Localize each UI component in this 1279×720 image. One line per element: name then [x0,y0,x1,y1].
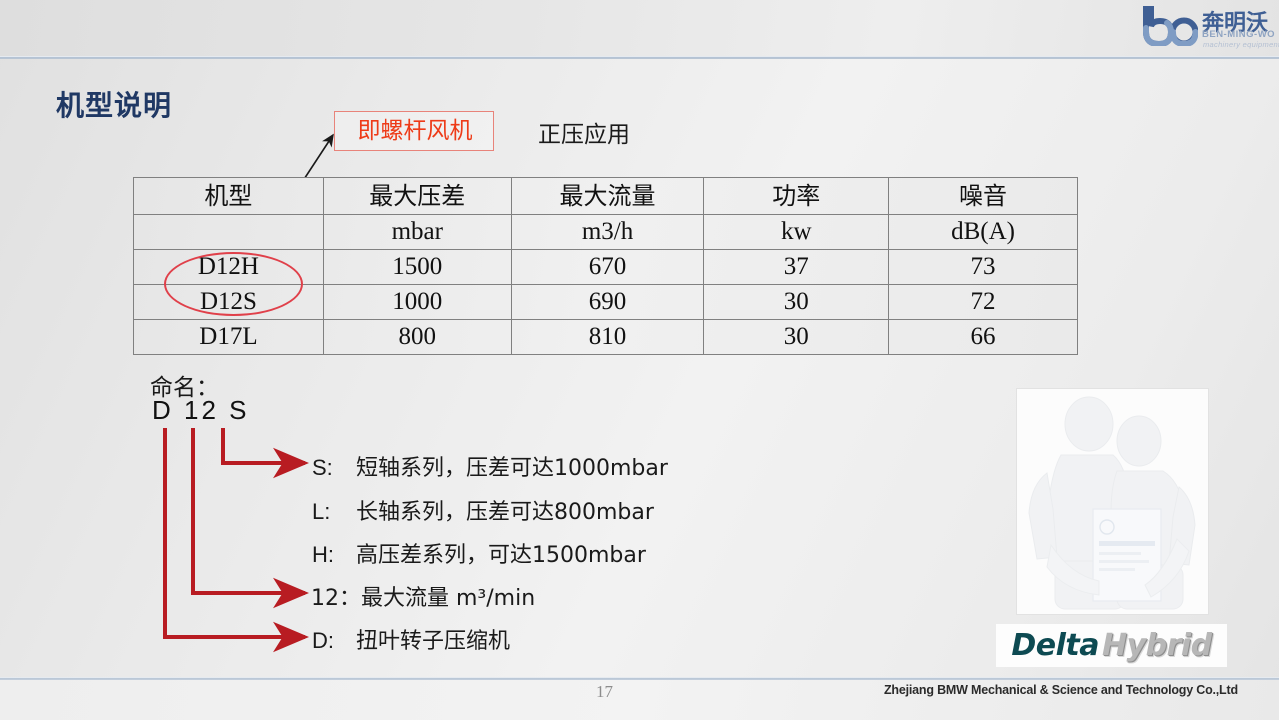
logo-name-en: BEN-MING-WO [1202,29,1275,40]
legend-key: H: [312,542,356,568]
table-cell: 72 [889,285,1078,320]
page-number: 17 [596,682,613,702]
table-cell-model: D17L [134,320,324,355]
robot-illustration-icon [1017,389,1208,614]
table-unit-cell: dB(A) [889,215,1078,250]
table-cell: 1000 [323,285,511,320]
spec-table: 机型 最大压差 最大流量 功率 噪音 mbar m3/h kw dB(A) D1… [133,177,1078,355]
table-cell: 66 [889,320,1078,355]
table-header-cell: 机型 [134,178,324,215]
footer-company-name: Zhejiang BMW Mechanical & Science and Te… [884,683,1238,697]
legend-item-d: D:扭叶转子压缩机 [312,623,510,655]
table-cell: 690 [511,285,704,320]
table-header-cell: 最大压差 [323,178,511,215]
table-unit-cell: mbar [323,215,511,250]
table-unit-cell [134,215,324,250]
legend-desc: 扭叶转子压缩机 [356,629,510,654]
table-cell: 37 [704,250,889,285]
legend-item-h: H:高压差系列，可达1500mbar [312,537,646,569]
legend-desc: 高压差系列，可达1500mbar [356,543,646,568]
slide-canvas: 奔明沃 BEN-MING-WO machinery equipment 机型说明… [0,0,1279,720]
table-header-row: 机型 最大压差 最大流量 功率 噪音 [134,178,1078,215]
callout-box: 即螺杆风机 [334,111,494,151]
table-cell: 30 [704,320,889,355]
table-cell: 670 [511,250,704,285]
legend-item-12: 12：最大流量 m³/min [311,580,535,612]
side-note-label: 正压应用 [538,115,630,149]
table-cell: 73 [889,250,1078,285]
table-row: D17L 800 810 30 66 [134,320,1078,355]
naming-code: D 12 S [152,395,250,426]
table-cell: 1500 [323,250,511,285]
table-row: D12H 1500 670 37 73 [134,250,1078,285]
header-band [0,0,1279,57]
table-cell: 30 [704,285,889,320]
table-units-row: mbar m3/h kw dB(A) [134,215,1078,250]
robot-photo [1016,388,1209,615]
table-cell-model: D12H [134,250,324,285]
product-logo-delta: Delta [1011,628,1099,663]
table-row: D12S 1000 690 30 72 [134,285,1078,320]
table-cell: 810 [511,320,704,355]
legend-desc: 最大流量 m³/min [361,586,535,611]
legend-key: D: [312,628,356,654]
company-logo: 奔明沃 BEN-MING-WO machinery equipment [1142,4,1274,52]
legend-desc: 长轴系列，压差可达800mbar [356,500,654,525]
bo-monogram-icon [1142,6,1198,46]
header-divider [0,56,1279,59]
callout-label: 即螺杆风机 [335,112,495,152]
table-header-cell: 噪音 [889,178,1078,215]
legend-item-s: S:短轴系列，压差可达1000mbar [312,450,668,482]
logo-tagline: machinery equipment [1203,40,1279,49]
legend-desc: 短轴系列，压差可达1000mbar [356,456,668,481]
legend-item-l: L:长轴系列，压差可达800mbar [312,494,654,526]
page-title: 机型说明 [56,84,172,124]
table-unit-cell: kw [704,215,889,250]
table-header-cell: 功率 [704,178,889,215]
table-cell: 800 [323,320,511,355]
table-unit-cell: m3/h [511,215,704,250]
legend-key: 12： [311,586,361,611]
product-logo: Delta Hybrid [996,624,1227,667]
product-logo-hybrid: Hybrid [1102,628,1212,663]
table-cell-model: D12S [134,285,324,320]
legend-key: L: [312,499,356,525]
table-header-cell: 最大流量 [511,178,704,215]
legend-key: S: [312,455,356,481]
